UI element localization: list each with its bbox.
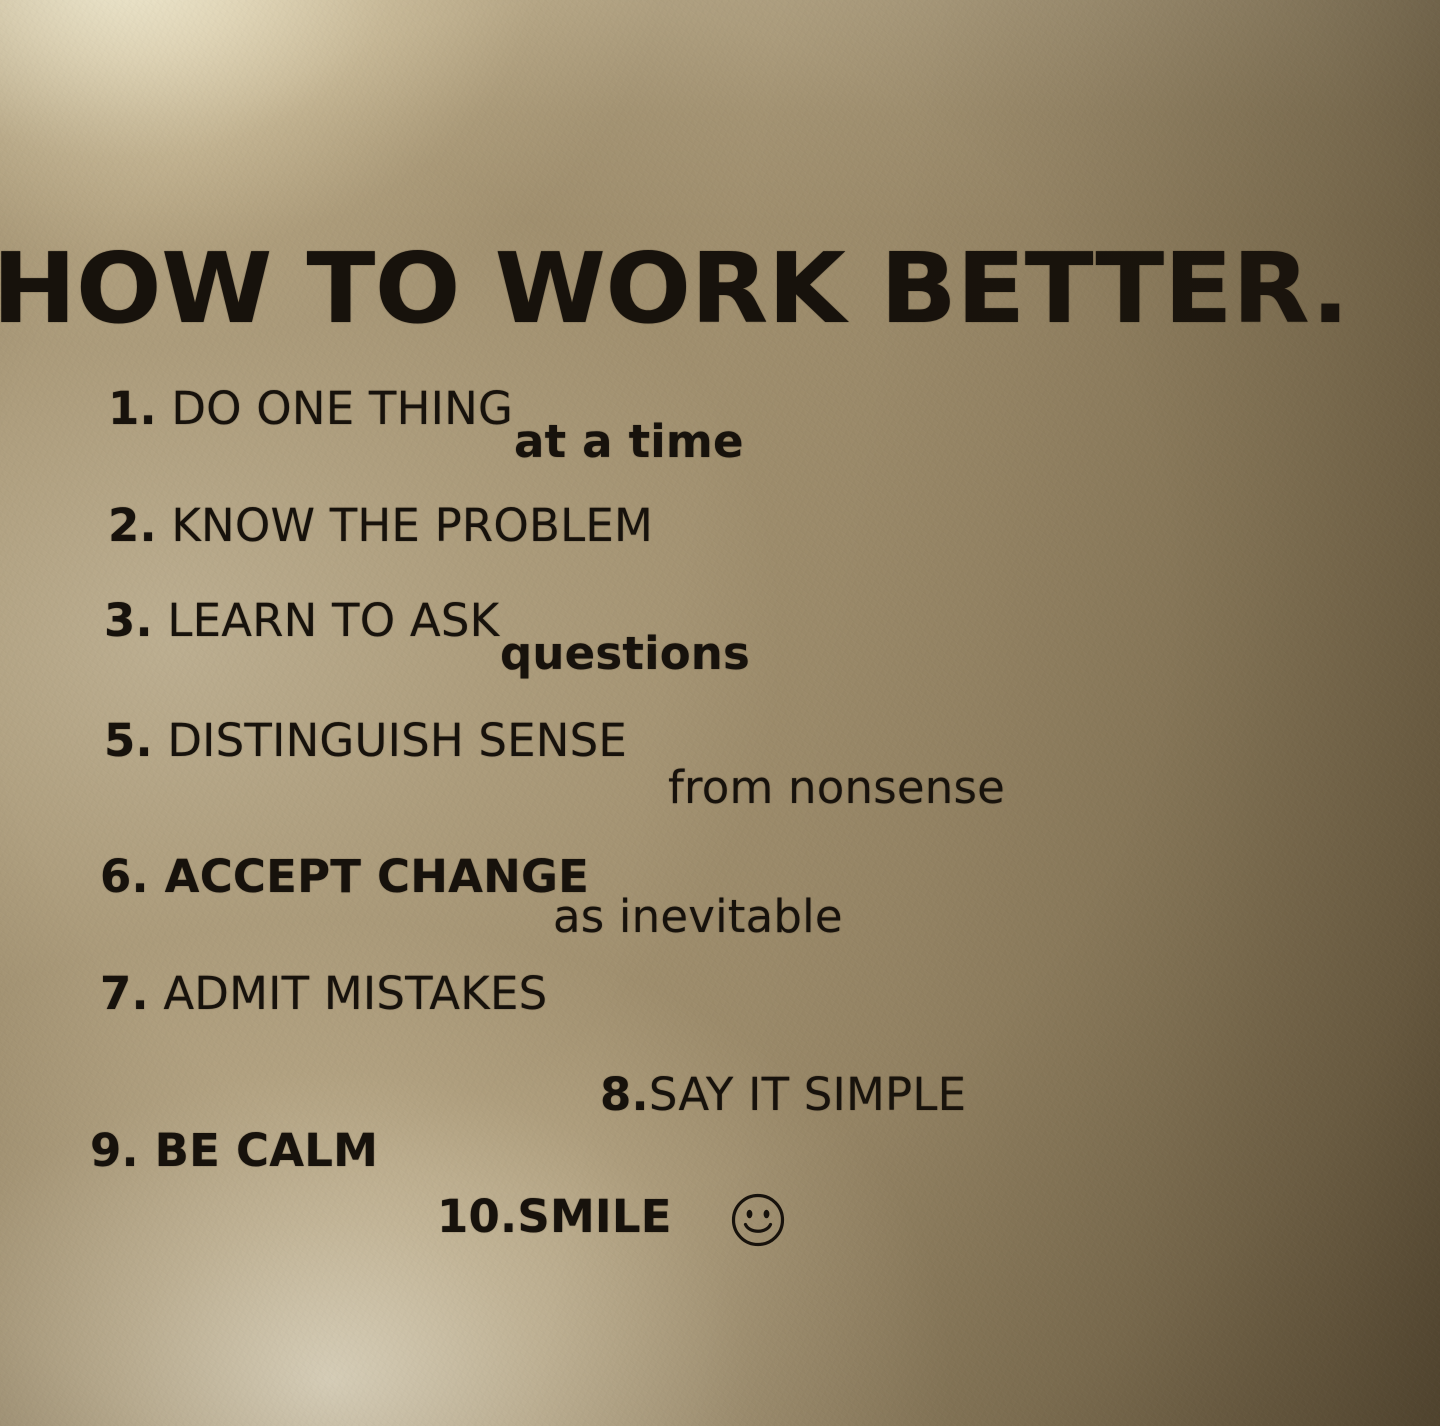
list-item-2-number: 2. (108, 499, 157, 552)
list-item-9-text: BE CALM (139, 1124, 378, 1177)
list-item-7-text: ADMIT MISTAKES (149, 967, 548, 1020)
list-item-10: 10.SMILE (437, 1194, 672, 1239)
list-item-5-subtext: from nonsense (668, 765, 1005, 810)
list-item-6: 6. ACCEPT CHANGE (100, 854, 589, 899)
list-item-1: 1. DO ONE THING (108, 386, 513, 431)
list-item-1-number: 1. (108, 382, 157, 435)
list-item-6-number: 6. (100, 850, 149, 903)
page-title: HOW TO WORK BETTER. (0, 240, 1349, 337)
list-item-2-text: KNOW THE PROBLEM (157, 499, 653, 552)
list-item-2: 2. KNOW THE PROBLEM (108, 503, 653, 548)
list-item-8-text: SAY IT SIMPLE (649, 1068, 966, 1121)
list-item-9-number: 9. (90, 1124, 139, 1177)
list-item-3-subtext: questions (500, 631, 750, 676)
list-item-8: 8.SAY IT SIMPLE (600, 1072, 966, 1117)
list-item-6-text: ACCEPT CHANGE (149, 850, 589, 903)
list-item-3-text: LEARN TO ASK (153, 594, 500, 647)
list-item-6-subtext: as inevitable (553, 894, 843, 939)
list-item-1-subtext: at a time (514, 419, 744, 464)
list-item-5: 5. DISTINGUISH SENSE (104, 718, 627, 763)
smiley-face-icon (730, 1192, 786, 1248)
list-item-1-text: DO ONE THING (157, 382, 513, 435)
list-item-10-number: 10. (437, 1190, 517, 1243)
list-item-5-number: 5. (104, 714, 153, 767)
list-item-3-number: 3. (104, 594, 153, 647)
list-item-8-number: 8. (600, 1068, 649, 1121)
list-item-9: 9. BE CALM (90, 1128, 378, 1173)
list-item-10-text: SMILE (517, 1190, 671, 1243)
list-item-5-text: DISTINGUISH SENSE (153, 714, 627, 767)
wall-poster: HOW TO WORK BETTER. 1. DO ONE THING at a… (0, 0, 1440, 1426)
list-item-7-number: 7. (100, 967, 149, 1020)
poster-text-content: HOW TO WORK BETTER. 1. DO ONE THING at a… (0, 0, 1440, 1426)
list-item-3: 3. LEARN TO ASK (104, 598, 499, 643)
list-item-7: 7. ADMIT MISTAKES (100, 971, 547, 1016)
